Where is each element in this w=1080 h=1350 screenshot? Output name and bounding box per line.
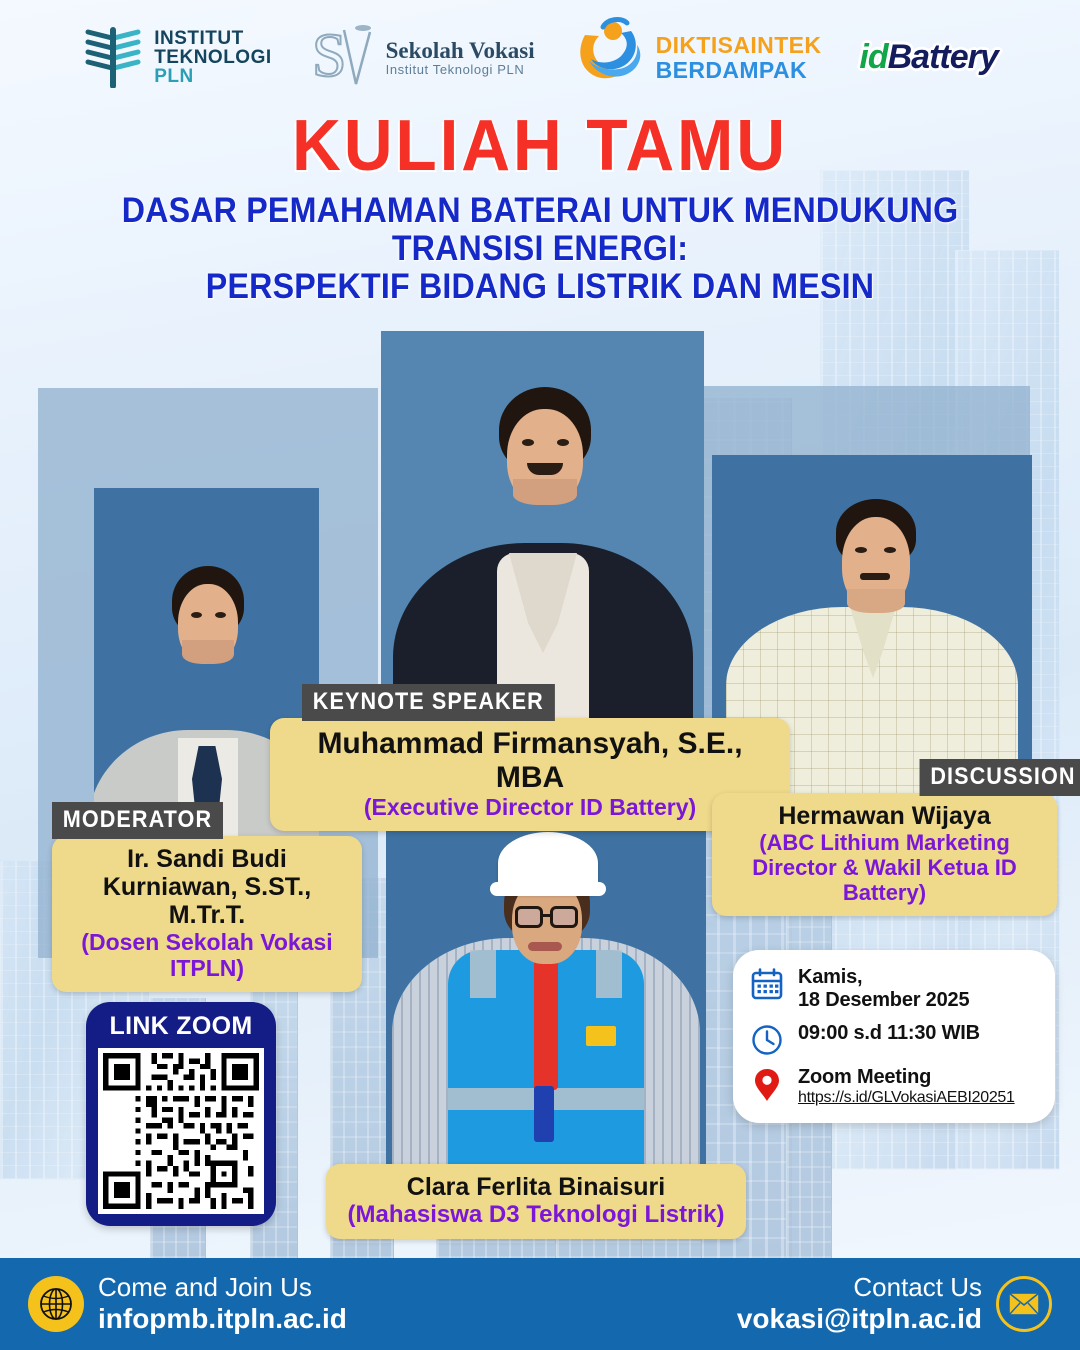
role-tag-moderator: MODERATOR	[52, 802, 223, 839]
itpln-logo-line2: TEKNOLOGI	[154, 48, 271, 67]
qr-code-label: LINK ZOOM	[98, 1012, 264, 1041]
name-card-mc: Clara Ferlita Binaisuri (Mahasiswa D3 Te…	[326, 1164, 746, 1239]
discussion-speaker-name: Hermawan Wijaya	[726, 802, 1043, 830]
keynote-speaker-name: Muhammad Firmansyah, S.E., MBA	[284, 727, 776, 794]
idbattery-logo-part2: Battery	[888, 38, 998, 76]
event-time: 09:00 s.d 11:30 WIB	[798, 1022, 980, 1045]
event-date-line-2: 18 Desember 2025	[798, 989, 969, 1012]
map-pin-icon	[749, 1066, 785, 1102]
footer-left-caption: Come and Join Us	[98, 1273, 347, 1303]
poster-root: INSTITUT TEKNOLOGI PLN S Sekolah Vokasi …	[0, 0, 1080, 1350]
event-location-row: Zoom Meeting https://s.id/GLVokasiAEBI20…	[749, 1066, 1037, 1107]
event-platform: Zoom Meeting	[798, 1066, 1015, 1089]
diktisaintek-logo-line2: BERDAMPAK	[656, 58, 822, 82]
footer-right-group: Contact Us vokasi@itpln.ac.id	[737, 1273, 1052, 1335]
subtitle-line-2: PERSPEKTIF BIDANG LISTRIK DAN MESIN	[43, 268, 1037, 306]
event-date-line-1: Kamis,	[798, 966, 969, 989]
diktisaintek-mark-icon	[573, 15, 647, 100]
itpln-logo: INSTITUT TEKNOLOGI PLN	[82, 22, 271, 93]
footer-right-caption: Contact Us	[737, 1273, 982, 1303]
footer-bar: Come and Join Us infopmb.itpln.ac.id Con…	[0, 1258, 1080, 1350]
role-tag-discussion: DISCUSSION	[920, 759, 1080, 796]
calendar-icon	[749, 966, 785, 1000]
moderator-affiliation-line-1: (Dosen Sekolah Vokasi	[66, 929, 348, 955]
discussion-affiliation-line-3: Battery)	[726, 880, 1043, 905]
clock-icon	[749, 1022, 785, 1056]
moderator-name-line-1: Ir. Sandi Budi	[66, 845, 348, 873]
diktisaintek-logo-line1: DIKTISAINTEK	[656, 33, 822, 57]
role-tag-keynote-speaker: KEYNOTE SPEAKER	[302, 684, 555, 721]
itpln-logo-line3: PLN	[154, 67, 271, 86]
svg-text:S: S	[312, 22, 346, 90]
moderator-affiliation-line-2: ITPLN)	[66, 955, 348, 981]
main-title: KULIAH TAMU	[32, 112, 1047, 180]
event-zoom-link[interactable]: https://s.id/GLVokasiAEBI20251	[798, 1089, 1015, 1106]
keynote-speaker-affiliation: (Executive Director ID Battery)	[284, 794, 776, 820]
envelope-icon	[996, 1276, 1052, 1332]
globe-icon	[28, 1276, 84, 1332]
mc-affiliation: (Mahasiswa D3 Teknologi Listrik)	[340, 1201, 732, 1228]
event-date-row: Kamis, 18 Desember 2025	[749, 966, 1037, 1012]
idbattery-logo-part1: id	[859, 38, 887, 76]
logo-bar: INSTITUT TEKNOLOGI PLN S Sekolah Vokasi …	[0, 0, 1080, 115]
subtitle-line-1: DASAR PEMAHAMAN BATERAI UNTUK MENDUKUNG …	[43, 192, 1037, 268]
discussion-affiliation-line-2: Director & Wakil Ketua ID	[726, 855, 1043, 880]
qr-code-box[interactable]: LINK ZOOM	[86, 1002, 276, 1226]
itpln-mark-icon	[82, 22, 144, 93]
diktisaintek-logo: DIKTISAINTEK BERDAMPAK	[573, 15, 822, 100]
qr-code-image[interactable]	[98, 1048, 264, 1214]
footer-left-group: Come and Join Us infopmb.itpln.ac.id	[28, 1273, 347, 1335]
footer-left-value[interactable]: infopmb.itpln.ac.id	[98, 1303, 347, 1335]
sv-logo-line2: Institut Teknologi PLN	[386, 63, 535, 77]
event-time-row: 09:00 s.d 11:30 WIB	[749, 1022, 1037, 1056]
event-details-card: Kamis, 18 Desember 2025 09:00 s.d 11:30 …	[733, 950, 1055, 1123]
mc-name: Clara Ferlita Binaisuri	[340, 1173, 732, 1201]
sekolah-vokasi-logo: S Sekolah Vokasi Institut Teknologi PLN	[310, 18, 535, 97]
title-block: KULIAH TAMU DASAR PEMAHAMAN BATERAI UNTU…	[0, 112, 1080, 306]
name-card-discussion: Hermawan Wijaya (ABC Lithium Marketing D…	[712, 793, 1057, 916]
discussion-affiliation-line-1: (ABC Lithium Marketing	[726, 830, 1043, 855]
itpln-logo-line1: INSTITUT	[154, 29, 271, 48]
idbattery-logo: idBattery	[859, 38, 997, 77]
moderator-name-line-2: Kurniawan, S.ST., M.Tr.T.	[66, 873, 348, 929]
sv-monogram-icon: S	[310, 18, 382, 97]
sv-logo-line1: Sekolah Vokasi	[386, 39, 535, 63]
name-card-moderator: Ir. Sandi Budi Kurniawan, S.ST., M.Tr.T.…	[52, 836, 362, 992]
footer-right-value[interactable]: vokasi@itpln.ac.id	[737, 1303, 982, 1335]
photo-mc	[386, 808, 706, 1188]
